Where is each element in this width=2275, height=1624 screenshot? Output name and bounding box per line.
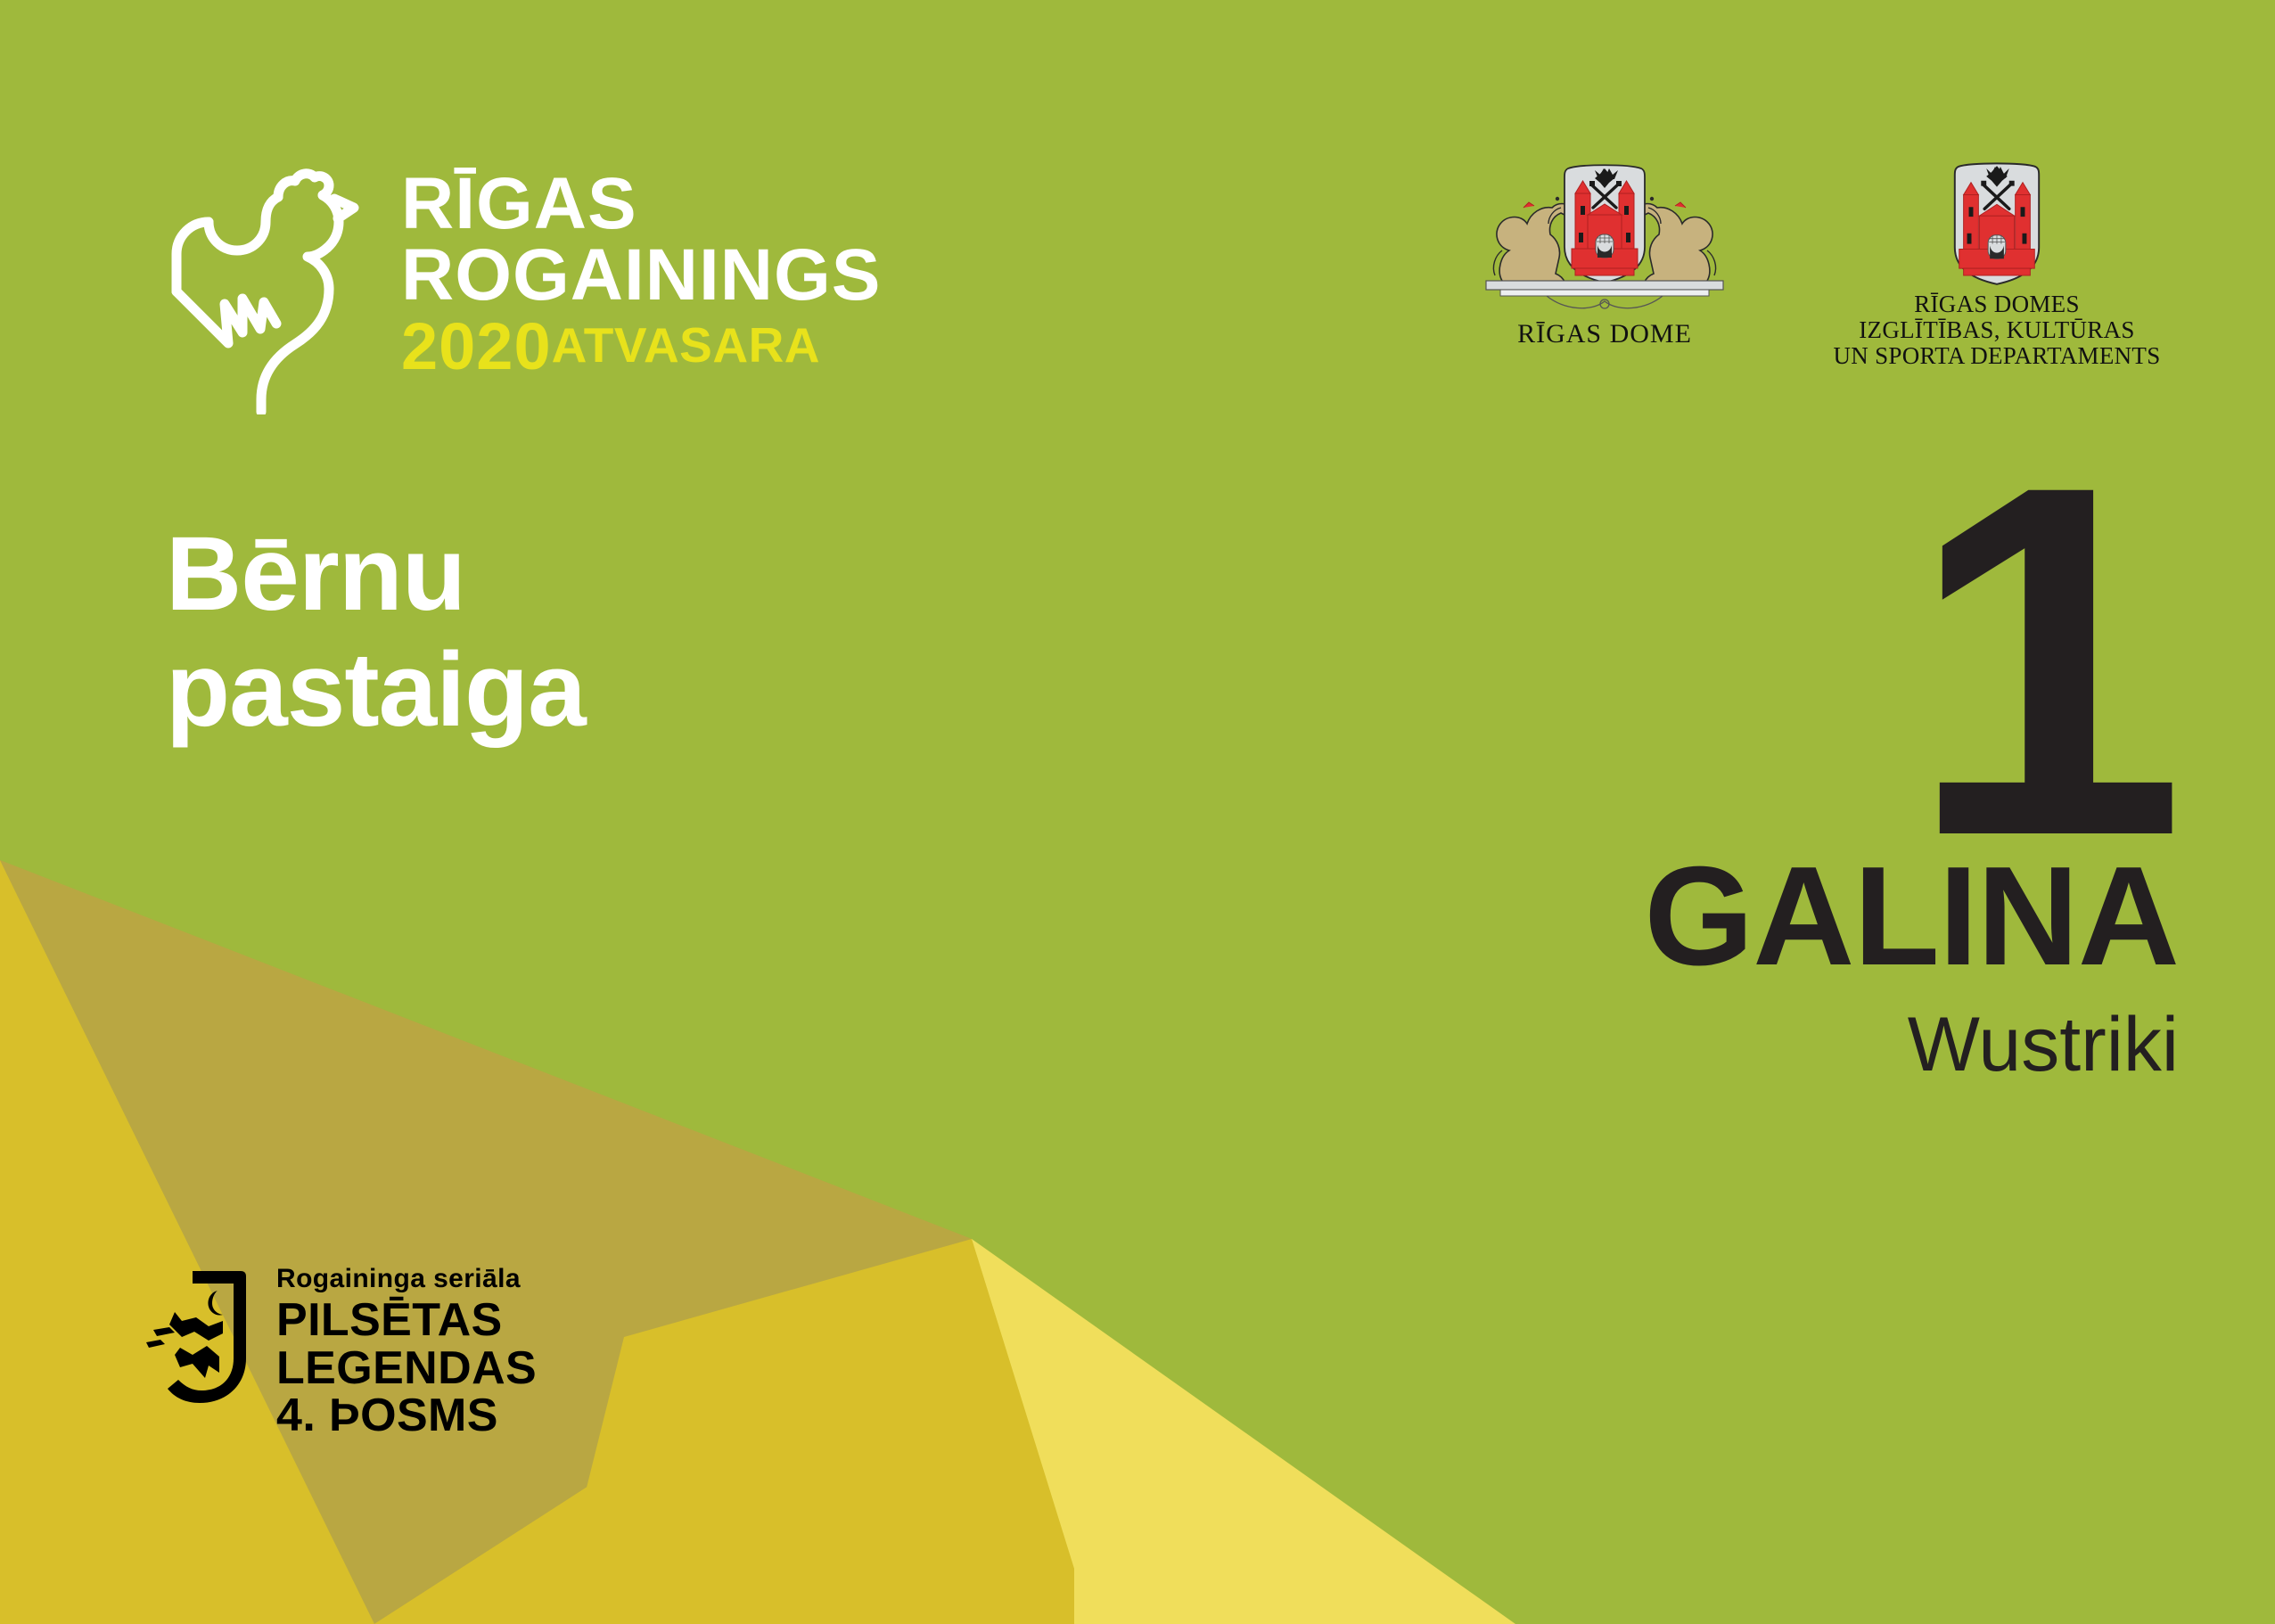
sponsor-education-department: RĪGAS DOMES IZGLĪTĪBAS, KULTŪRAS UN SPOR… [1805,156,2189,369]
event-logo: RĪGAS ROGAININGS 2020ATVASARA [160,156,881,414]
sponsor-education-department-caption: RĪGAS DOMES IZGLĪTĪBAS, KULTŪRAS UN SPOR… [1833,291,2160,369]
sponsor-caption-line2: IZGLĪTĪBAS, KULTŪRAS [1833,317,2160,343]
event-logo-year: 2020 [401,309,552,383]
category-line1: Bērnu [166,517,586,633]
bib-subtitle: Wustriki [1644,1006,2179,1083]
category-title: Bērnu pastaiga [166,517,586,749]
sponsor-caption-line3: UN SPORTA DEPARTAMENTS [1833,343,2160,369]
event-logo-line3: 2020ATVASARA [401,314,881,380]
race-bib: RĪGAS ROGAININGS 2020ATVASARA [0,0,2275,1624]
sponsor-caption-line1: RĪGAS DOMES [1833,291,2160,317]
series-kicker: Rogaininga seriāla [276,1266,537,1292]
event-logo-season: ATVASARA [552,317,820,373]
running-mask-icon [141,1266,257,1413]
series-main: PILSĒTAS LEGENDAS 4. ÞOSMS [276,1297,537,1440]
riga-education-culture-sport-department-shield-icon [1944,156,2049,288]
sponsor-riga-dome: RĪGAS DOME [1475,156,1734,349]
riga-city-council-coat-of-arms-icon [1475,156,1734,316]
event-logo-line1: RĪGAS [401,168,881,240]
series-logo: Rogaininga seriāla PILSĒTAS LEGENDAS 4. … [141,1266,537,1440]
event-logo-line2: ROGAININGS [401,240,881,311]
series-line3: 4. ÞOSMS [276,1392,537,1440]
series-logo-text: Rogaininga seriāla PILSĒTAS LEGENDAS 4. … [276,1266,537,1440]
bib-identity: 1 GALINA Wustriki [1644,481,2179,1083]
bib-team-name: GALINA [1644,846,2179,987]
event-logo-text: RĪGAS ROGAININGS 2020ATVASARA [401,168,881,380]
sponsor-logos: RĪGAS DOME [1475,156,2189,369]
series-line2: LEGENDAS [276,1345,537,1393]
series-line1: PILSĒTAS [276,1297,537,1345]
bib-number: 1 [1644,481,2179,841]
category-line2: pastaiga [166,633,586,749]
sponsor-riga-dome-caption: RĪGAS DOME [1517,320,1692,349]
rooster-outline-icon [160,156,374,414]
